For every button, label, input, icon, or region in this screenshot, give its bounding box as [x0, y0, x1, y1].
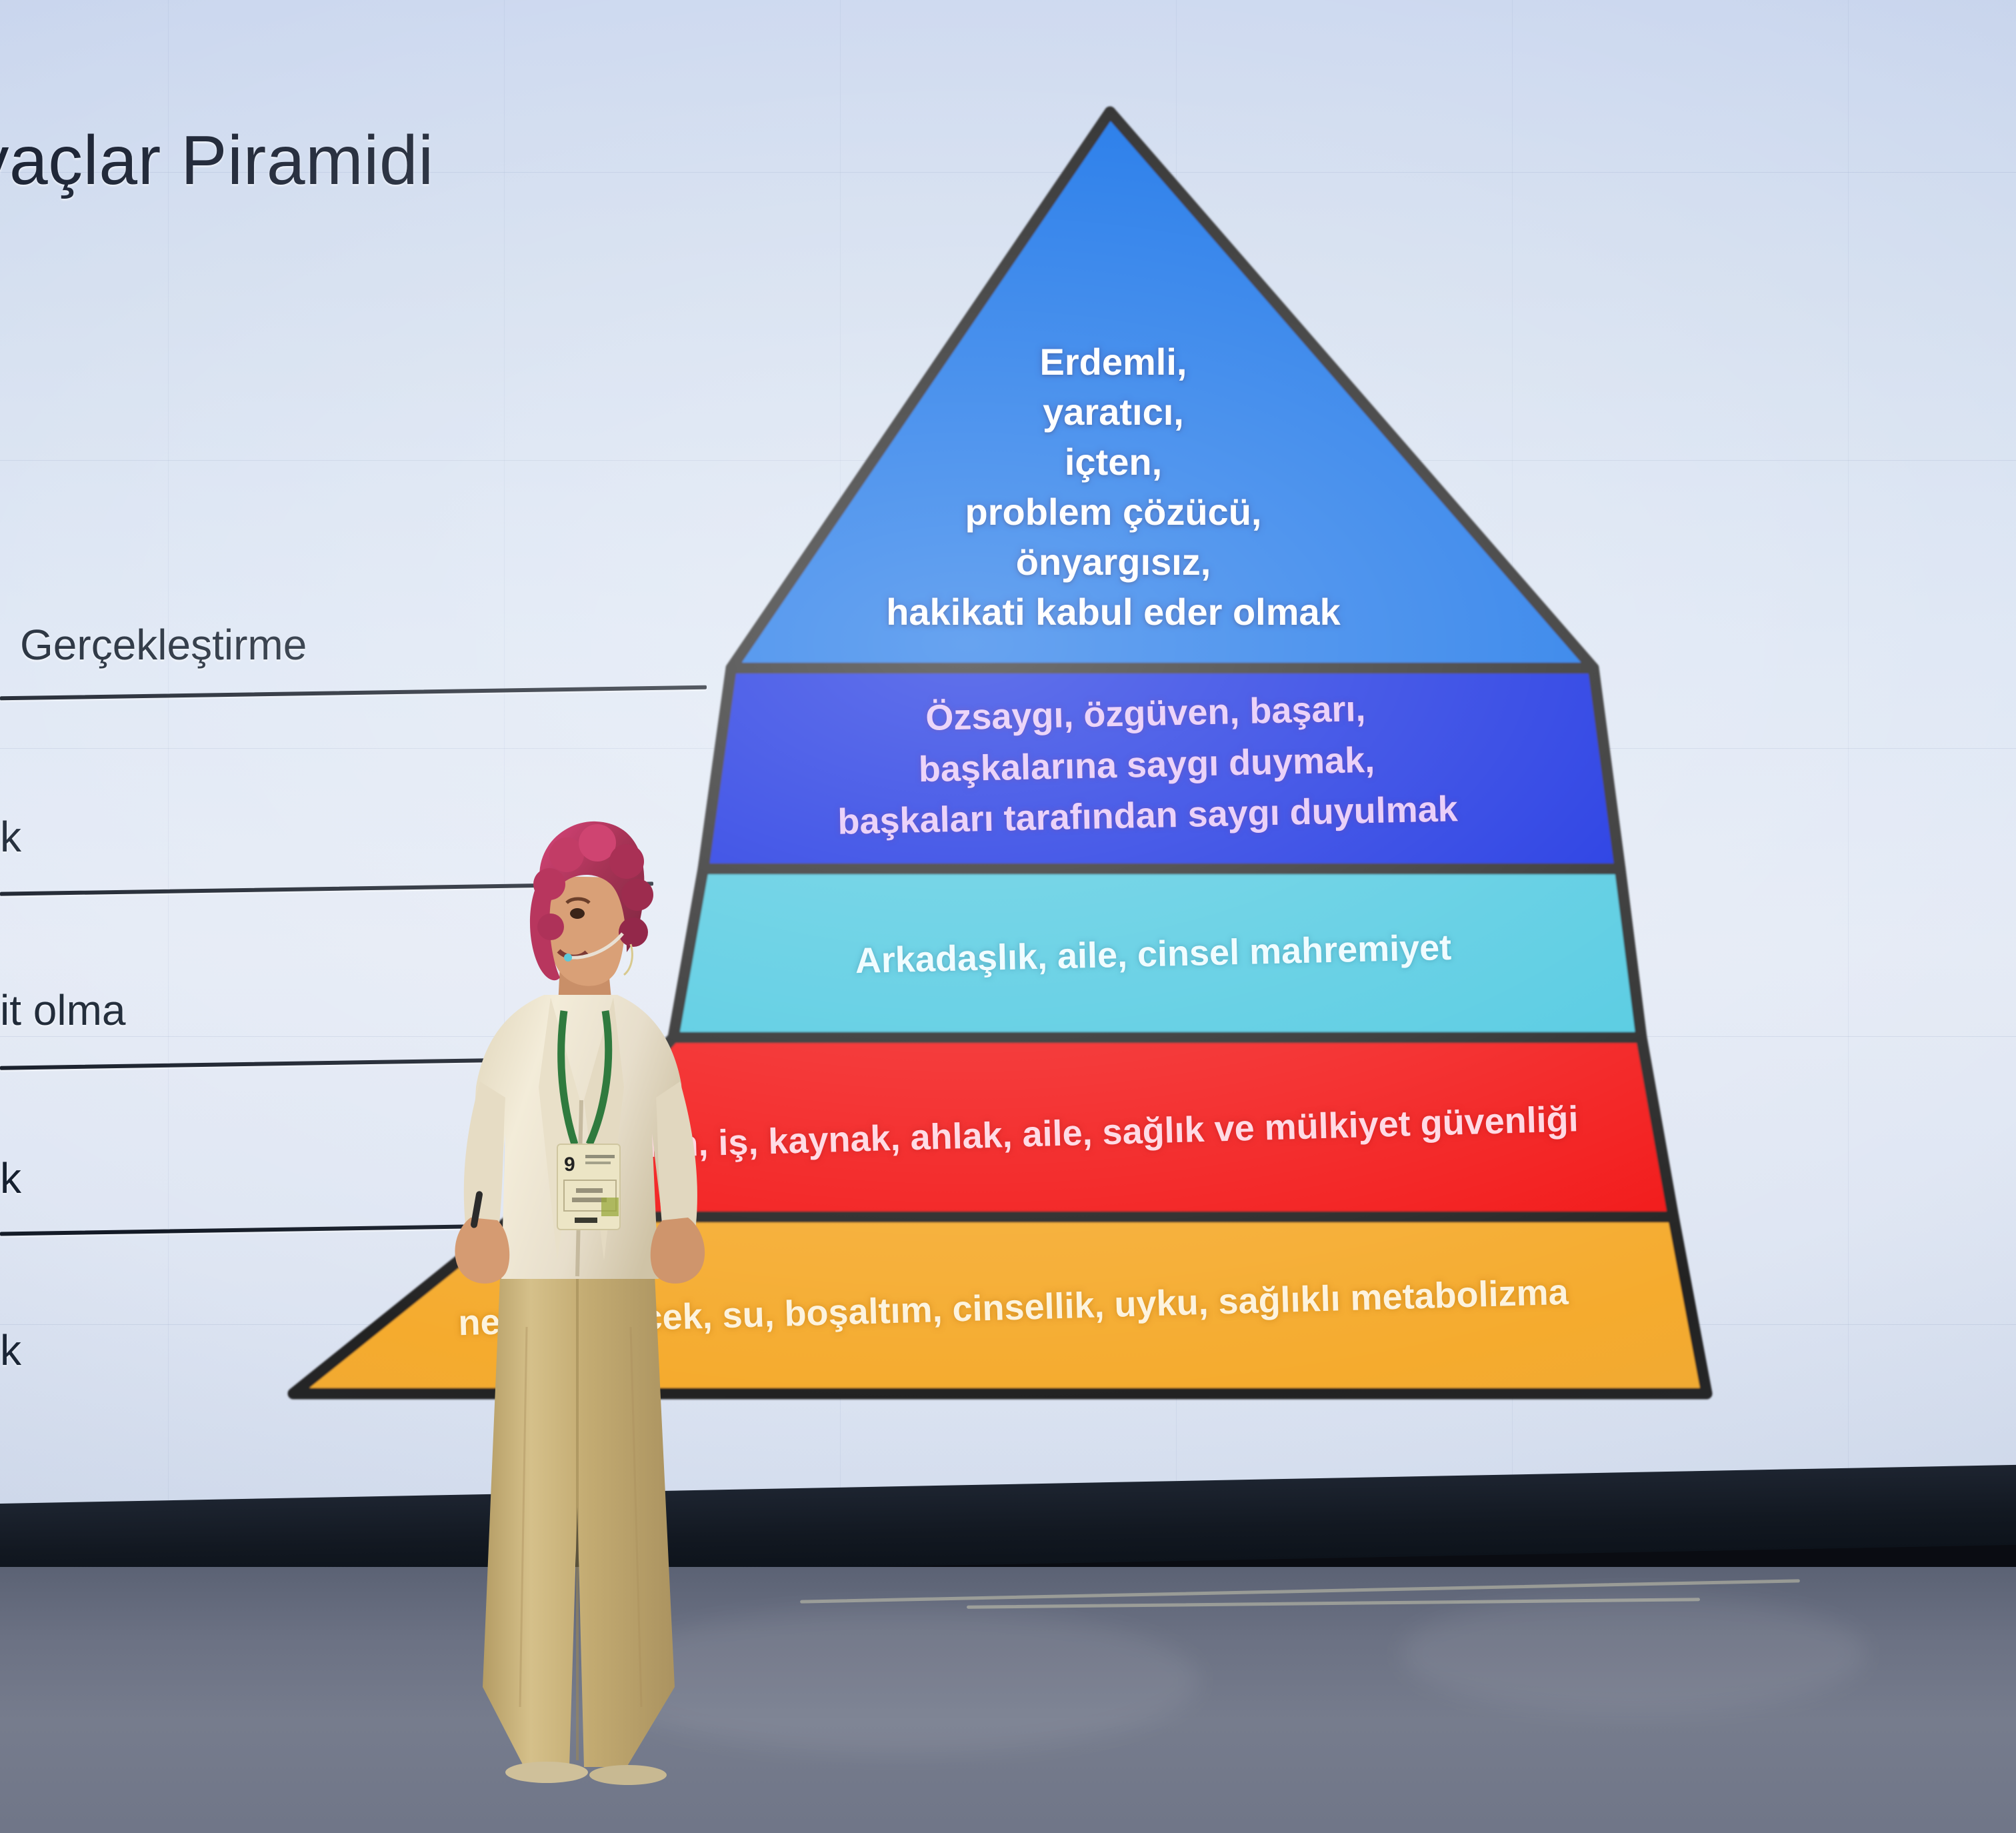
speaker-illustration: 9 [427, 820, 773, 1807]
speaker-shoe [589, 1765, 667, 1785]
projection-screen: ntiyaçlar Piramidi Gerçekleştirme k it o… [0, 0, 2016, 1534]
pyramid-level-esteem [703, 668, 1620, 869]
pyramid-level-belonging [673, 869, 1641, 1038]
pyramid-svg [0, 0, 2016, 1534]
badge-number: 9 [564, 1154, 575, 1176]
presentation-photo: ntiyaçlar Piramidi Gerçekleştirme k it o… [0, 0, 2016, 1833]
needs-pyramid: Erdemli, yaratıcı, içten, problem çözücü… [0, 0, 2016, 1534]
speaker-hand-right [651, 1218, 705, 1284]
speaker-hand-left [455, 1218, 509, 1284]
speaker-eye [570, 908, 585, 919]
stage-floor [0, 1567, 2016, 1833]
speaker-person: 9 [427, 820, 773, 1807]
floor-light-spot [1400, 1594, 1867, 1714]
speaker-shoe [505, 1762, 588, 1783]
speaker-badge: 9 [557, 1144, 620, 1230]
pyramid-level-self-actualization [731, 112, 1593, 668]
